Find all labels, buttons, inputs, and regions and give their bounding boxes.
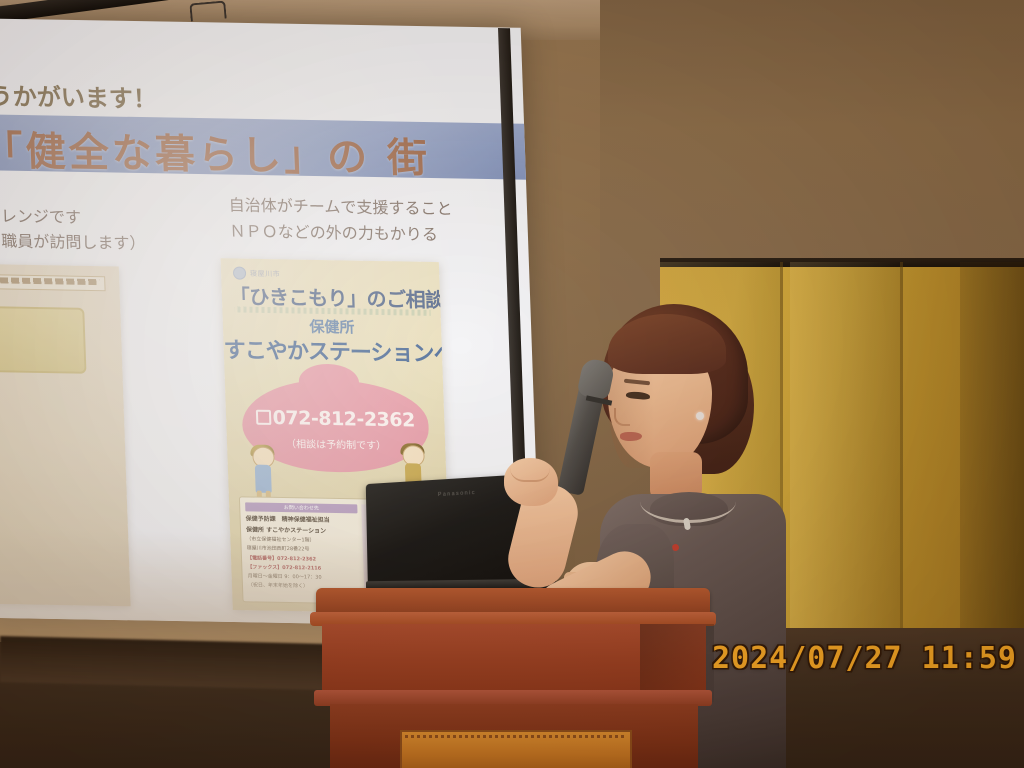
slide-left-note: カラーはオレンジです ーム（市の職員が訪問します）: [0, 203, 253, 258]
podium-front-panel: [400, 730, 632, 768]
camera-timestamp: 2024/07/27 11:59: [712, 641, 1017, 676]
left-note-line-2: ーム（市の職員が訪問します）: [0, 228, 253, 259]
municipal-logo: 寝屋川市: [233, 266, 281, 280]
left-poster: になっても安心して暮らせるまちづくりを目指し、 にオレンジ訪問を行っています。 …: [0, 261, 131, 606]
presenter-earring: [696, 412, 704, 420]
slide-right-note: 自治体がチームで支援すること ＮＰＯなどの外の力もかりる: [228, 192, 530, 248]
logo-mark-icon: [233, 266, 246, 279]
poster-phone-number: 072-812-2362: [242, 406, 429, 431]
right-note-line-2: ＮＰＯなどの外の力もかりる: [229, 218, 530, 249]
logo-label: 寝屋川市: [250, 268, 280, 279]
left-poster-banner-text: 問にうかがいます！: [0, 76, 222, 116]
mascot-character-left: [249, 447, 277, 503]
presentation-photo: 「健全な暮らし」の 街 カラーはオレンジです ーム（市の職員が訪問します） 自治…: [0, 0, 1024, 768]
screen-mount-hook: [189, 0, 226, 21]
right-poster-heading-3: すこやかステーションへ: [223, 332, 442, 368]
presenter-lapel-pin: [672, 544, 679, 551]
poster-phone-value: 072-812-2362: [272, 407, 415, 431]
left-note-line-1: カラーはオレンジです: [0, 203, 252, 234]
slide-title: 「健全な暮らし」の 街: [0, 118, 504, 185]
presenter-nose: [614, 408, 630, 426]
presenter-necklace: [640, 480, 736, 523]
presenter-left-fist: [504, 458, 558, 506]
left-poster-banner: [0, 303, 86, 374]
poster-info-header: お問い合わせ先: [245, 502, 357, 513]
mascot-body: [255, 465, 272, 493]
telephone-icon: [255, 410, 271, 425]
